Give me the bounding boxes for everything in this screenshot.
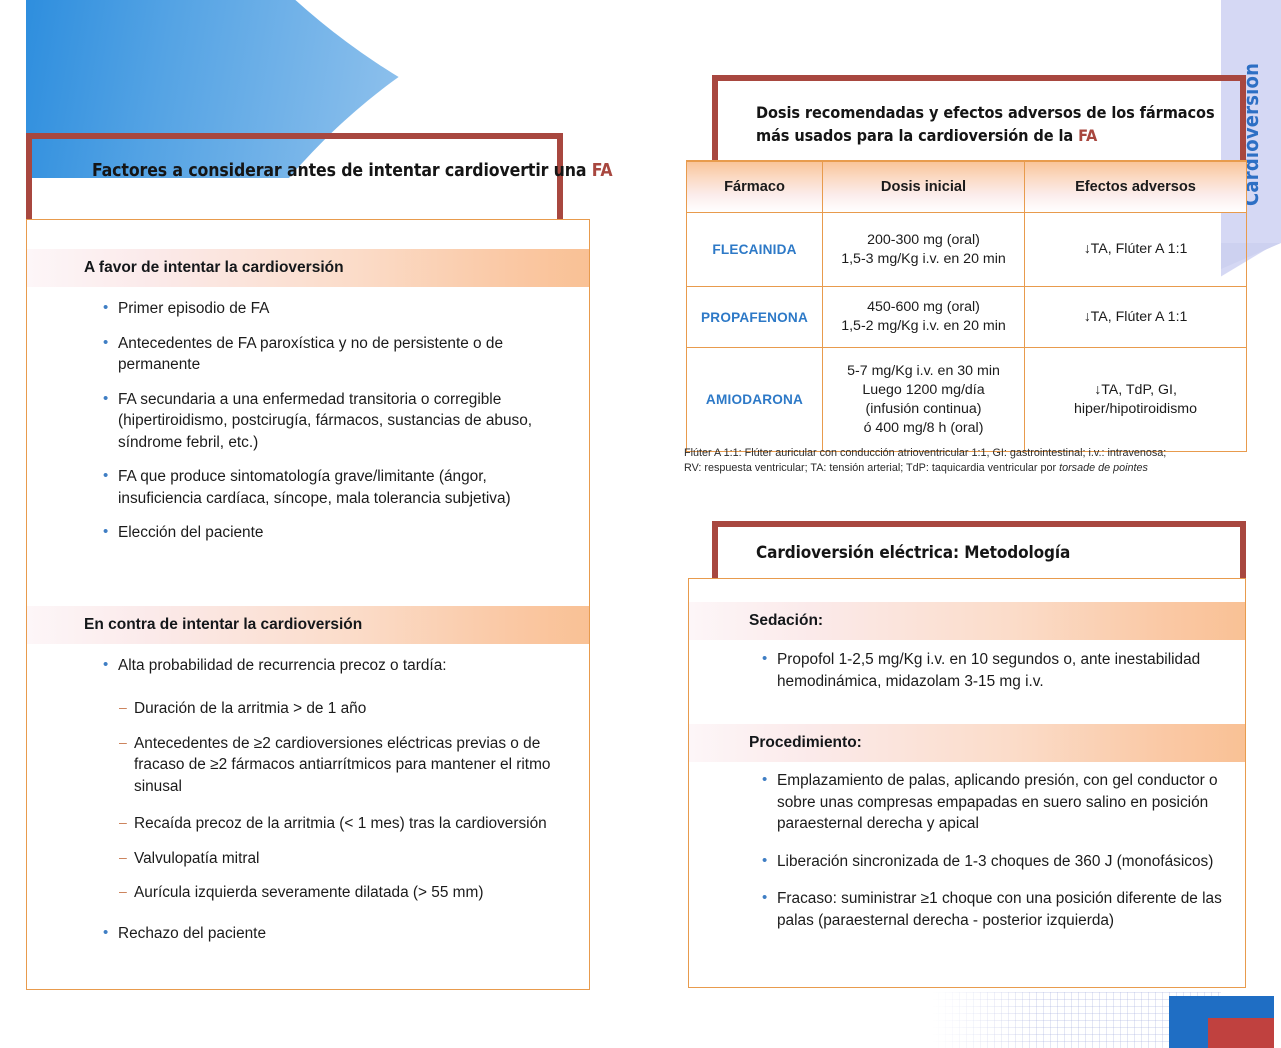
list-procedimiento: Emplazamiento de palas, aplicando presió… (761, 770, 1226, 944)
cell-effects: ↓TA, TdP, GI, hiper/hipotiroidismo (1025, 348, 1247, 452)
table-header-line1: Dosis recomendadas y efectos adversos de… (756, 101, 1226, 124)
col-header-effects: Efectos adversos (1025, 161, 1247, 213)
list-item: Antecedentes de FA paroxística y no de p… (102, 333, 552, 376)
list-en-contra-tail: Rechazo del paciente (102, 923, 562, 958)
method-header-text: Cardioversión eléctrica: Metodología (756, 543, 1070, 563)
list-item: Emplazamiento de palas, aplicando presió… (761, 770, 1226, 835)
band-en-contra: En contra de intentar la cardioversión (27, 606, 589, 644)
drug-dosing-table: Fármaco Dosis inicial Efectos adversos F… (686, 160, 1247, 452)
list-item: Liberación sincronizada de 1-3 choques d… (761, 851, 1226, 873)
table-footnote: Flúter A 1:1: Flúter auricular con condu… (684, 446, 1204, 476)
band-sedacion: Sedación: (689, 602, 1245, 640)
cell-dose: 200-300 mg (oral) 1,5-3 mg/Kg i.v. en 20… (823, 213, 1025, 287)
list-item: Elección del paciente (102, 522, 552, 544)
band-a-favor-label: A favor de intentar la cardioversión (84, 259, 344, 277)
left-panel-header-main: Factores a considerar antes de intentar … (92, 161, 592, 181)
list-item: Rechazo del paciente (102, 923, 562, 945)
corner-logo-red (1208, 1018, 1274, 1048)
method-header-frame: Cardioversión eléctrica: Metodología (712, 521, 1246, 579)
list-item: Recaída precoz de la arritmia (< 1 mes) … (119, 813, 579, 835)
band-a-favor: A favor de intentar la cardioversión (27, 249, 589, 287)
list-item: Antecedentes de ≥2 cardioversiones eléct… (119, 733, 579, 798)
method-content-box: Sedación: Propofol 1-2,5 mg/Kg i.v. en 1… (688, 578, 1246, 988)
col-header-drug: Fármaco (687, 161, 823, 213)
table-header-frame: Dosis recomendadas y efectos adversos de… (712, 75, 1246, 160)
cell-effects: ↓TA, Flúter A 1:1 (1025, 213, 1247, 287)
footnote-line-2-italic: torsade de pointes (1059, 462, 1148, 474)
band-sedacion-label: Sedación: (749, 612, 823, 630)
cell-dose: 450-600 mg (oral) 1,5-2 mg/Kg i.v. en 20… (823, 287, 1025, 348)
footnote-line-1: Flúter A 1:1: Flúter auricular con condu… (684, 446, 1204, 461)
left-panel-header-accent: FA (592, 161, 613, 181)
left-content-box: A favor de intentar la cardioversión Pri… (26, 219, 590, 990)
footnote-line-2: RV: respuesta ventricular; TA: tensión a… (684, 461, 1204, 476)
cell-drug: AMIODARONA (687, 348, 823, 452)
left-panel-header-text: Factores a considerar antes de intentar … (92, 161, 613, 181)
table-header-row: Fármaco Dosis inicial Efectos adversos (687, 161, 1247, 213)
band-procedimiento-label: Procedimiento: (749, 734, 862, 752)
table-row: FLECAINIDA 200-300 mg (oral) 1,5-3 mg/Kg… (687, 213, 1247, 287)
list-en-contra-lead: Alta probabilidad de recurrencia precoz … (102, 655, 572, 690)
list-sedacion: Propofol 1-2,5 mg/Kg i.v. en 10 segundos… (761, 649, 1221, 705)
footnote-line-2-pre: RV: respuesta ventricular; TA: tensión a… (684, 462, 1059, 474)
cell-drug: FLECAINIDA (687, 213, 823, 287)
left-panel-header-frame: Factores a considerar antes de intentar … (26, 133, 563, 222)
table-header-text: Dosis recomendadas y efectos adversos de… (756, 101, 1226, 147)
band-en-contra-label: En contra de intentar la cardioversión (84, 616, 362, 634)
list-item: Fracaso: suministrar ≥1 choque con una p… (761, 888, 1226, 931)
col-header-dose: Dosis inicial (823, 161, 1025, 213)
list-item: Propofol 1-2,5 mg/Kg i.v. en 10 segundos… (761, 649, 1221, 692)
list-item: Aurícula izquierda severamente dilatada … (119, 882, 579, 904)
table-row: PROPAFENONA 450-600 mg (oral) 1,5-2 mg/K… (687, 287, 1247, 348)
band-procedimiento: Procedimiento: (689, 724, 1245, 762)
list-item: Valvulopatía mitral (119, 848, 579, 870)
table-header-line2-accent: FA (1078, 126, 1097, 145)
list-item: FA que produce sintomatología grave/limi… (102, 466, 552, 509)
page-root: Cardioversión Factores a considerar ante… (0, 0, 1281, 1048)
list-item: Alta probabilidad de recurrencia precoz … (102, 655, 572, 677)
list-item: Duración de la arritmia > de 1 año (119, 698, 579, 720)
table-header-line2-main: más usados para la cardioversión de la (756, 126, 1078, 145)
table-row: AMIODARONA 5-7 mg/Kg i.v. en 30 min Lueg… (687, 348, 1247, 452)
list-en-contra-sub: Duración de la arritmia > de 1 año Antec… (119, 698, 579, 917)
cell-dose: 5-7 mg/Kg i.v. en 30 min Luego 1200 mg/d… (823, 348, 1025, 452)
cell-drug: PROPAFENONA (687, 287, 823, 348)
cell-effects: ↓TA, Flúter A 1:1 (1025, 287, 1247, 348)
list-item: FA secundaria a una enfermedad transitor… (102, 389, 552, 454)
list-a-favor: Primer episodio de FA Antecedentes de FA… (102, 298, 552, 557)
list-item: Primer episodio de FA (102, 298, 552, 320)
